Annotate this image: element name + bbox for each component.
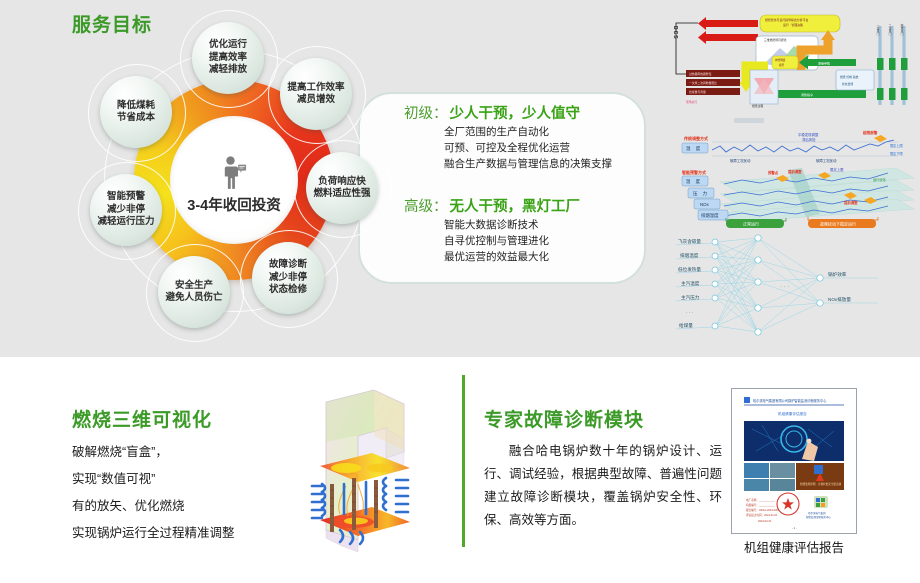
- svg-text:故障工况扰动: 故障工况扰动: [816, 158, 837, 163]
- svg-text:测量参数: 测量参数: [818, 61, 830, 66]
- svg-text:过热器再热器壁温: 过热器再热器壁温: [689, 72, 712, 76]
- section-divider: [462, 375, 465, 547]
- wheel-center-label: 3-4年收回投资: [170, 194, 298, 215]
- svg-text:给煤量与风量: 给煤量与风量: [689, 90, 706, 94]
- bubble-load: 负荷响应快 燃料适应性强: [306, 152, 378, 224]
- svg-text:提前调整: 提前调整: [844, 200, 858, 205]
- level-primary-item-2: 融合生产数据与管理信息的决策支撑: [444, 156, 612, 172]
- svg-text:评估起止时间：2024-01-01: 评估起止时间：2024-01-01: [746, 513, 778, 517]
- dcs-control-flow-diagram: DCS 燃烧优化与运行指导综合分析平台 运行 · 管理决策 三维燃烧场可视化: [668, 8, 916, 108]
- svg-text:限定下限: 限定下限: [890, 151, 904, 156]
- svg-text:平稳发现调整: 平稳发现调整: [798, 132, 819, 137]
- svg-text:燃烧过程: 燃烧过程: [752, 104, 763, 108]
- bubble-safety: 安全生产 避免人员伤亡: [158, 256, 230, 328]
- svg-text:电厂名称：___________: 电厂名称：___________: [746, 498, 775, 502]
- combustion-line-0: 破解燃烧“盲盒”，: [72, 443, 168, 461]
- panel-title-expert-diagnosis: 专家故障诊断模块: [484, 405, 644, 432]
- svg-text:现场执行: 现场执行: [686, 100, 697, 104]
- svg-text:2024-03-31: 2024-03-31: [758, 519, 772, 523]
- bubble-safety-label: 安全生产 避免人员伤亡: [165, 280, 222, 305]
- svg-text:DCS: DCS: [672, 26, 678, 40]
- intelligent-prediction-trend-diagram: 传统调整方式 温 度 平稳发现调整 滞后风险 超限报警 限定上限 限定下限 故障…: [668, 118, 916, 222]
- svg-text:状态监测: 状态监测: [842, 82, 853, 86]
- svg-text:滞后风险: 滞后风险: [802, 137, 816, 142]
- svg-text:预警点: 预警点: [768, 170, 779, 175]
- svg-text:· · ·: · · ·: [780, 284, 789, 290]
- svg-text:低位发热量: 低位发热量: [678, 266, 701, 273]
- svg-text:神经网络: 神经网络: [775, 58, 786, 62]
- level-advanced-item-0: 智能大数据诊断技术: [444, 217, 580, 233]
- level-advanced-value: 无人干预，黑灯工厂: [450, 199, 581, 215]
- svg-text:排烟温度: 排烟温度: [680, 252, 699, 259]
- level-primary-heading: 初级：少人干预，少人值守: [404, 104, 612, 124]
- panel-title-combustion-3d: 燃烧三维可视化: [72, 405, 212, 432]
- level-advanced: 高级：无人干预，黑灯工厂 智能大数据诊断技术 自寻优控制与管理进化 最优运营的效…: [404, 197, 580, 265]
- bubble-warning-label: 智能预警 减少非停 减轻运行压力: [97, 191, 154, 229]
- boiler-furnace-3d-cfd-visualization: [300, 380, 432, 555]
- svg-text:超限报警: 超限报警: [862, 130, 878, 135]
- svg-text:燃烧 控制 系统: 燃烧 控制 系统: [840, 75, 859, 79]
- svg-text:哈尔滨电气集团: 哈尔滨电气集团: [808, 511, 826, 515]
- combustion-line-1: 实现“数值可视”: [72, 470, 155, 488]
- level-primary-item-0: 全厂范围的生产自动化: [444, 124, 612, 140]
- svg-text:模型: 模型: [779, 63, 785, 67]
- bubble-optimize: 优化运行 提高效率 减轻排放: [192, 22, 264, 94]
- svg-text:锅炉效率: 锅炉效率: [828, 271, 847, 278]
- level-primary-item-1: 可预、可控及全程优化运营: [444, 140, 612, 156]
- level-primary-value: 少人干预，少人值守: [450, 106, 581, 122]
- svg-text:报告编号：HDGL-2024-0001: 报告编号：HDGL-2024-0001: [746, 508, 780, 512]
- wheel-center-disc: 3-4年收回投资: [170, 116, 298, 244]
- level-advanced-label: 高级：: [404, 199, 448, 215]
- bubble-optimize-label: 优化运行 提高效率 减轻排放: [209, 39, 247, 77]
- svg-text:哈尔滨电气集团有限公司锅炉智能监测诊断服务中心: 哈尔滨电气集团有限公司锅炉智能监测诊断服务中心: [753, 398, 827, 403]
- svg-text:调整指令: 调整指令: [801, 92, 813, 97]
- svg-text:机组编号：___________: 机组编号：___________: [746, 503, 775, 507]
- svg-text:给煤量: 给煤量: [679, 322, 693, 329]
- svg-text:温 度: 温 度: [686, 178, 702, 185]
- svg-text:压 力: 压 力: [693, 190, 709, 197]
- svg-text:二次风门: 二次风门: [888, 24, 892, 36]
- level-primary: 初级：少人干预，少人值守 全厂范围的生产自动化 可预、可控及全程优化运营 融合生…: [404, 104, 612, 172]
- svg-text:· · ·: · · ·: [686, 310, 693, 315]
- svg-text:三维燃烧场可视化: 三维燃烧场可视化: [764, 38, 787, 42]
- bubble-warning: 智能预警 减少非停 减轻运行压力: [90, 174, 162, 246]
- svg-text:主汽温度: 主汽温度: [681, 280, 700, 287]
- svg-text:排烟温度: 排烟温度: [701, 212, 719, 219]
- svg-text:- 1 -: - 1 -: [792, 526, 797, 530]
- expert-diagnosis-text: 融合哈电锅炉数十年的锅炉设计、运行、调试经验，根据典型故障、普遍性问题建立故障诊…: [484, 444, 722, 527]
- svg-text:智能预警方式: 智能预警方式: [682, 169, 706, 175]
- svg-text:温 度: 温 度: [686, 145, 702, 152]
- svg-text:传统调整方式: 传统调整方式: [683, 135, 708, 141]
- svg-text:智能监测诊断服务中心: 智能监测诊断服务中心: [806, 515, 832, 519]
- svg-text:运行优化: 运行优化: [873, 177, 887, 182]
- svg-text:故障扰动下稳定运行: 故障扰动下稳定运行: [820, 221, 856, 227]
- top-section: 服务目标: [0, 0, 920, 357]
- svg-text:一次风二次风粉量配比: 一次风二次风粉量配比: [689, 81, 717, 85]
- doc-thumbnail-caption: 机组健康评估报告: [731, 537, 857, 556]
- svg-text:燃烧优化与运行指导综合分析平台: 燃烧优化与运行指导综合分析平台: [765, 17, 808, 22]
- bubble-load-label: 负荷响应快 燃料适应性强: [313, 176, 370, 201]
- svg-text:正常运行: 正常运行: [743, 221, 759, 227]
- bubble-fault-label: 故障诊断 减少非停 状态检修: [269, 259, 307, 297]
- level-primary-label: 初级：: [404, 106, 448, 122]
- person-presenting-icon: [221, 156, 247, 195]
- bubble-efficiency-label: 提高工作效率 减员增效: [287, 82, 344, 107]
- svg-text:智能监测诊断 · 让锅炉更安全更高效: 智能监测诊断 · 让锅炉更安全更高效: [800, 482, 842, 486]
- svg-text:燃尽风门: 燃尽风门: [900, 23, 904, 35]
- combustion-line-2: 有的放矢、优化燃烧: [72, 497, 185, 515]
- svg-text:限定上限: 限定上限: [830, 167, 844, 172]
- svg-text:限定上限: 限定上限: [890, 143, 904, 148]
- level-advanced-heading: 高级：无人干预，黑灯工厂: [404, 197, 580, 217]
- bubble-efficiency: 提高工作效率 减员增效: [280, 58, 352, 130]
- slide-root: 服务目标: [0, 0, 920, 583]
- svg-text:NOx排放量: NOx排放量: [828, 296, 851, 303]
- svg-text:一次风门: 一次风门: [876, 24, 880, 36]
- bubble-fault: 故障诊断 减少非停 状态检修: [252, 242, 324, 314]
- service-goal-wheel: 3-4年收回投资 优化运行 提高效率 减轻排放 提高工作效率 减员增效 负荷响应…: [88, 18, 378, 343]
- svg-text:NOx: NOx: [700, 202, 710, 207]
- neural-network-model-diagram: 飞灰含碳量 排烟温度 低位发热量 主汽温度 主汽压力 · · · 给煤量 锅炉效…: [668, 228, 916, 346]
- svg-text:提前调整: 提前调整: [788, 169, 802, 174]
- svg-text:飞灰含碳量: 飞灰含碳量: [678, 238, 701, 245]
- svg-text:运行 · 管理决策: 运行 · 管理决策: [783, 22, 803, 27]
- svg-text:机组健康评估报告: 机组健康评估报告: [778, 411, 807, 416]
- bubble-coal: 降低煤耗 节省成本: [100, 76, 172, 148]
- svg-text:故障工况扰动: 故障工况扰动: [730, 158, 751, 163]
- level-advanced-item-2: 最优运营的效益最大化: [444, 249, 580, 265]
- level-advanced-item-1: 自寻优控制与管理进化: [444, 233, 580, 249]
- bubble-coal-label: 降低煤耗 节省成本: [117, 100, 155, 125]
- unit-health-assessment-report-thumbnail: 哈尔滨电气集团有限公司锅炉智能监测诊断服务中心 机组健康评估报告 智能监测诊断 …: [731, 388, 857, 534]
- combustion-line-3: 实现锅炉运行全过程精准调整: [72, 524, 235, 542]
- expert-diagnosis-paragraph: 融合哈电锅炉数十年的锅炉设计、运行、调试经验，根据典型故障、普遍性问题建立故障诊…: [484, 440, 722, 532]
- svg-text:主汽压力: 主汽压力: [681, 294, 700, 301]
